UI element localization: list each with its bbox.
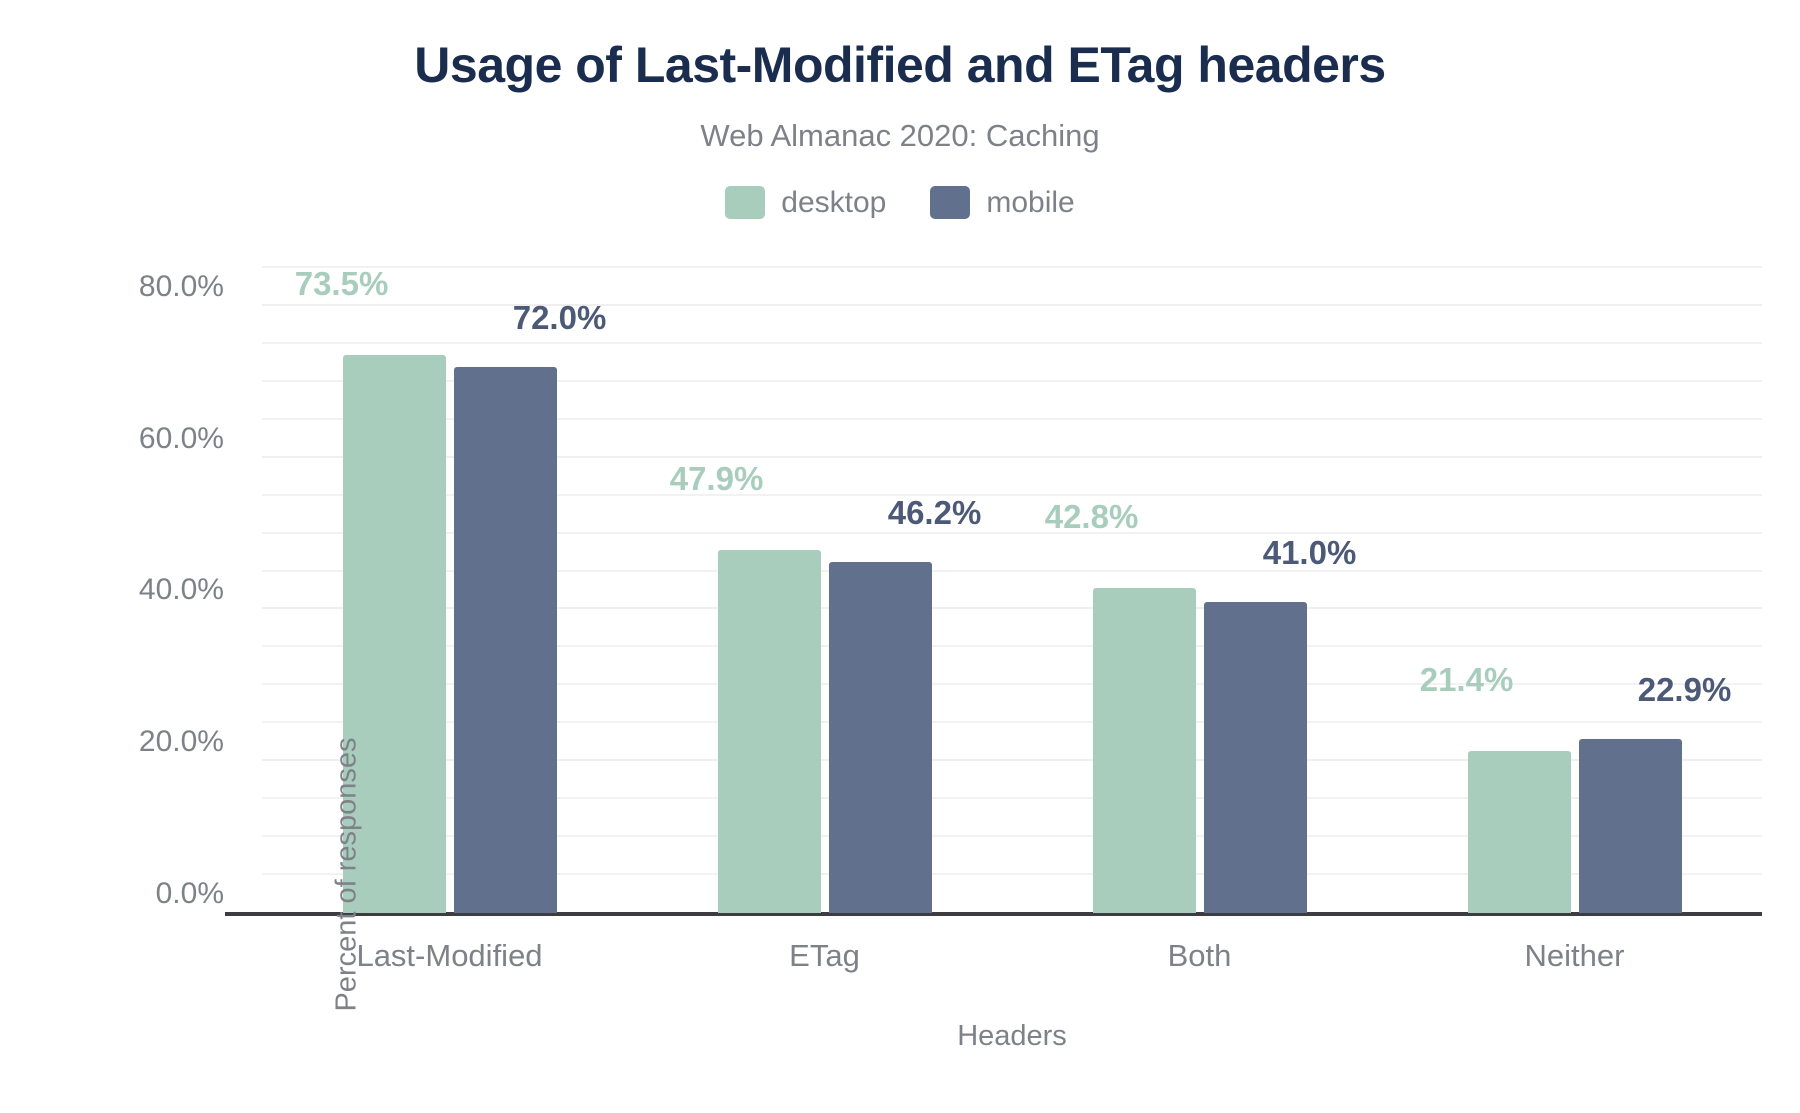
bar-groups: 73.5%72.0%47.9%46.2%42.8%41.0%21.4%22.9% [262, 268, 1762, 913]
legend-swatch-desktop-icon [725, 186, 765, 219]
y-axis-tick: 60.0% [4, 422, 224, 456]
x-axis-tick: Last-Modified [262, 938, 637, 974]
legend-item-desktop[interactable]: desktop [725, 186, 886, 219]
chart-title: Usage of Last-Modified and ETag headers [0, 36, 1800, 94]
bar-mobile-etag[interactable] [829, 562, 932, 913]
legend-item-mobile[interactable]: mobile [930, 186, 1074, 219]
bar-group: 47.9%46.2% [637, 268, 1012, 913]
legend-label-mobile: mobile [986, 188, 1074, 218]
bar-mobile-last-modified[interactable] [454, 367, 557, 913]
bar-label-mobile-neither: 22.9% [1638, 671, 1732, 709]
plot-area: 0.0%20.0%40.0%60.0%80.0% 73.5%72.0%47.9%… [262, 268, 1762, 913]
y-axis-tick: 40.0% [4, 573, 224, 607]
bar-desktop-etag[interactable] [718, 550, 821, 913]
y-axis-tick: 80.0% [4, 270, 224, 304]
bar-mobile-both[interactable] [1204, 602, 1307, 913]
chart-subtitle: Web Almanac 2020: Caching [0, 118, 1800, 154]
bar-desktop-neither[interactable] [1468, 751, 1571, 913]
bar-group: 21.4%22.9% [1387, 268, 1762, 913]
bar-label-desktop-both: 42.8% [1045, 498, 1139, 536]
y-axis-tick: 0.0% [4, 877, 224, 911]
x-axis-tick: ETag [637, 938, 1012, 974]
chart-legend: desktop mobile [0, 186, 1800, 219]
x-axis-title: Headers [262, 1020, 1762, 1053]
bar-label-mobile-etag: 46.2% [888, 494, 982, 532]
bar-label-desktop-neither: 21.4% [1420, 661, 1514, 699]
legend-swatch-mobile-icon [930, 186, 970, 219]
x-axis-tick: Both [1012, 938, 1387, 974]
y-axis-title: Percent of responses [331, 725, 364, 1025]
x-axis-tick-labels: Last-ModifiedETagBothNeither [262, 938, 1762, 974]
legend-label-desktop: desktop [781, 188, 886, 218]
bar-label-desktop-etag: 47.9% [670, 460, 764, 498]
chart-container: Usage of Last-Modified and ETag headers … [0, 0, 1800, 1113]
y-axis-tick: 20.0% [4, 725, 224, 759]
bar-mobile-neither[interactable] [1579, 739, 1682, 913]
bar-label-desktop-last-modified: 73.5% [295, 265, 389, 303]
bar-label-mobile-both: 41.0% [1263, 534, 1357, 572]
bar-desktop-both[interactable] [1093, 588, 1196, 913]
bar-label-mobile-last-modified: 72.0% [513, 299, 607, 337]
x-axis-tick: Neither [1387, 938, 1762, 974]
bar-group: 73.5%72.0% [262, 268, 637, 913]
bar-group: 42.8%41.0% [1012, 268, 1387, 913]
